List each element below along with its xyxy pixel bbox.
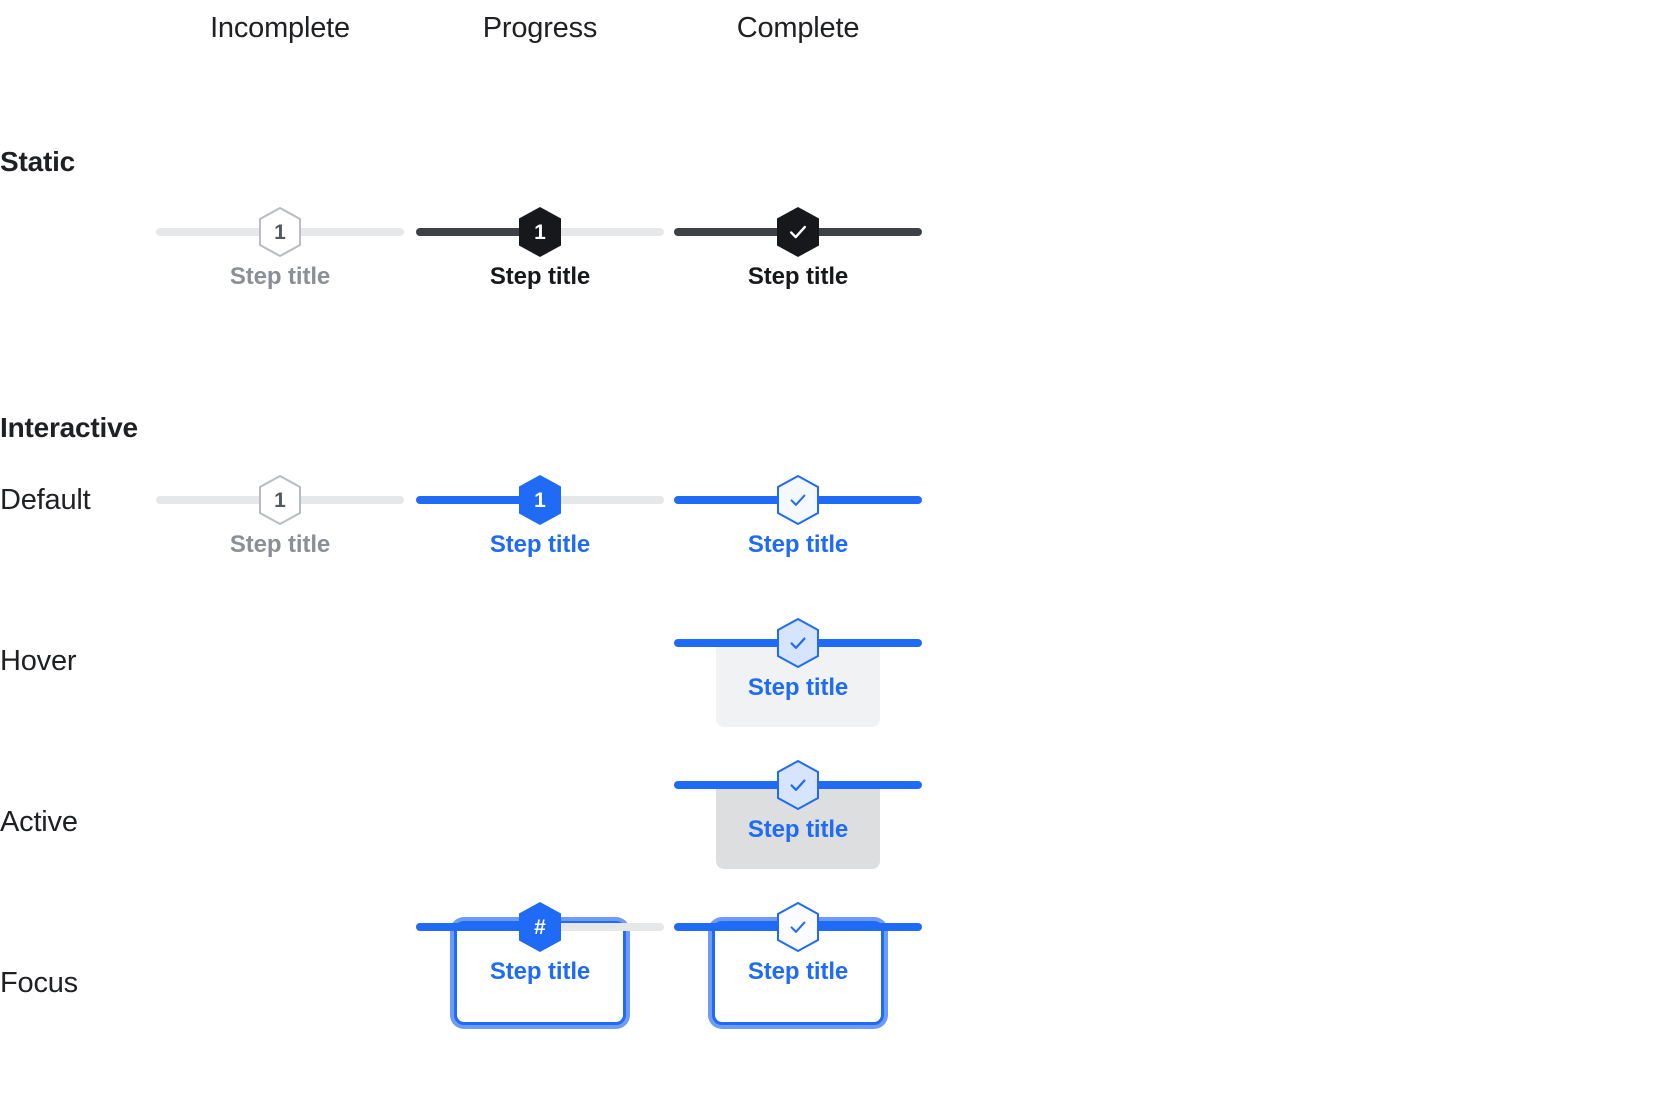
step-title: Step title — [400, 957, 680, 987]
step-focus-progress[interactable]: # Step title — [400, 885, 680, 1005]
row-label-focus: Focus — [0, 967, 78, 1000]
step-default-complete[interactable]: Step title — [658, 458, 938, 578]
step-number: 1 — [534, 490, 546, 511]
step-title: Step title — [658, 815, 938, 845]
column-header-incomplete: Incomplete — [140, 12, 420, 45]
check-icon — [787, 221, 809, 243]
step-title: Step title — [140, 530, 420, 560]
step-number: 1 — [274, 490, 286, 511]
section-title-interactive: Interactive — [0, 412, 138, 444]
step-marker-hexagon: 1 — [517, 206, 563, 258]
step-default-progress[interactable]: 1 Step title — [400, 458, 680, 578]
step-static-complete: Step title — [658, 190, 938, 310]
step-number-placeholder: # — [534, 917, 546, 938]
step-title: Step title — [400, 262, 680, 292]
step-title: Step title — [658, 957, 938, 987]
row-label-hover: Hover — [0, 645, 76, 678]
step-static-progress: 1 Step title — [400, 190, 680, 310]
step-marker-hexagon: 1 — [257, 474, 303, 526]
column-header-progress: Progress — [400, 12, 680, 45]
step-title: Step title — [658, 262, 938, 292]
step-hover-complete[interactable]: Step title — [658, 601, 938, 721]
step-marker-hexagon — [775, 759, 821, 811]
step-static-incomplete: 1 Step title — [140, 190, 420, 310]
row-label-default: Default — [0, 484, 91, 517]
step-active-complete[interactable]: Step title — [658, 743, 938, 863]
step-default-incomplete[interactable]: 1 Step title — [140, 458, 420, 578]
step-number: 1 — [274, 222, 286, 243]
step-title: Step title — [400, 530, 680, 560]
step-number: 1 — [534, 222, 546, 243]
step-marker-hexagon — [775, 901, 821, 953]
check-icon — [787, 489, 809, 511]
check-icon — [787, 632, 809, 654]
step-marker-hexagon — [775, 474, 821, 526]
step-title: Step title — [658, 530, 938, 560]
step-marker-hexagon: 1 — [257, 206, 303, 258]
column-header-complete: Complete — [658, 12, 938, 45]
step-marker-hexagon: # — [517, 901, 563, 953]
row-label-active: Active — [0, 806, 78, 839]
step-indicator-spec-sheet: Incomplete Progress Complete Static Inte… — [0, 0, 1672, 1100]
check-icon — [787, 916, 809, 938]
check-icon — [787, 774, 809, 796]
step-marker-hexagon — [775, 206, 821, 258]
step-marker-hexagon — [775, 617, 821, 669]
step-focus-complete[interactable]: Step title — [658, 885, 938, 1005]
section-title-static: Static — [0, 146, 75, 178]
step-title: Step title — [140, 262, 420, 292]
step-title: Step title — [658, 673, 938, 703]
step-marker-hexagon: 1 — [517, 474, 563, 526]
